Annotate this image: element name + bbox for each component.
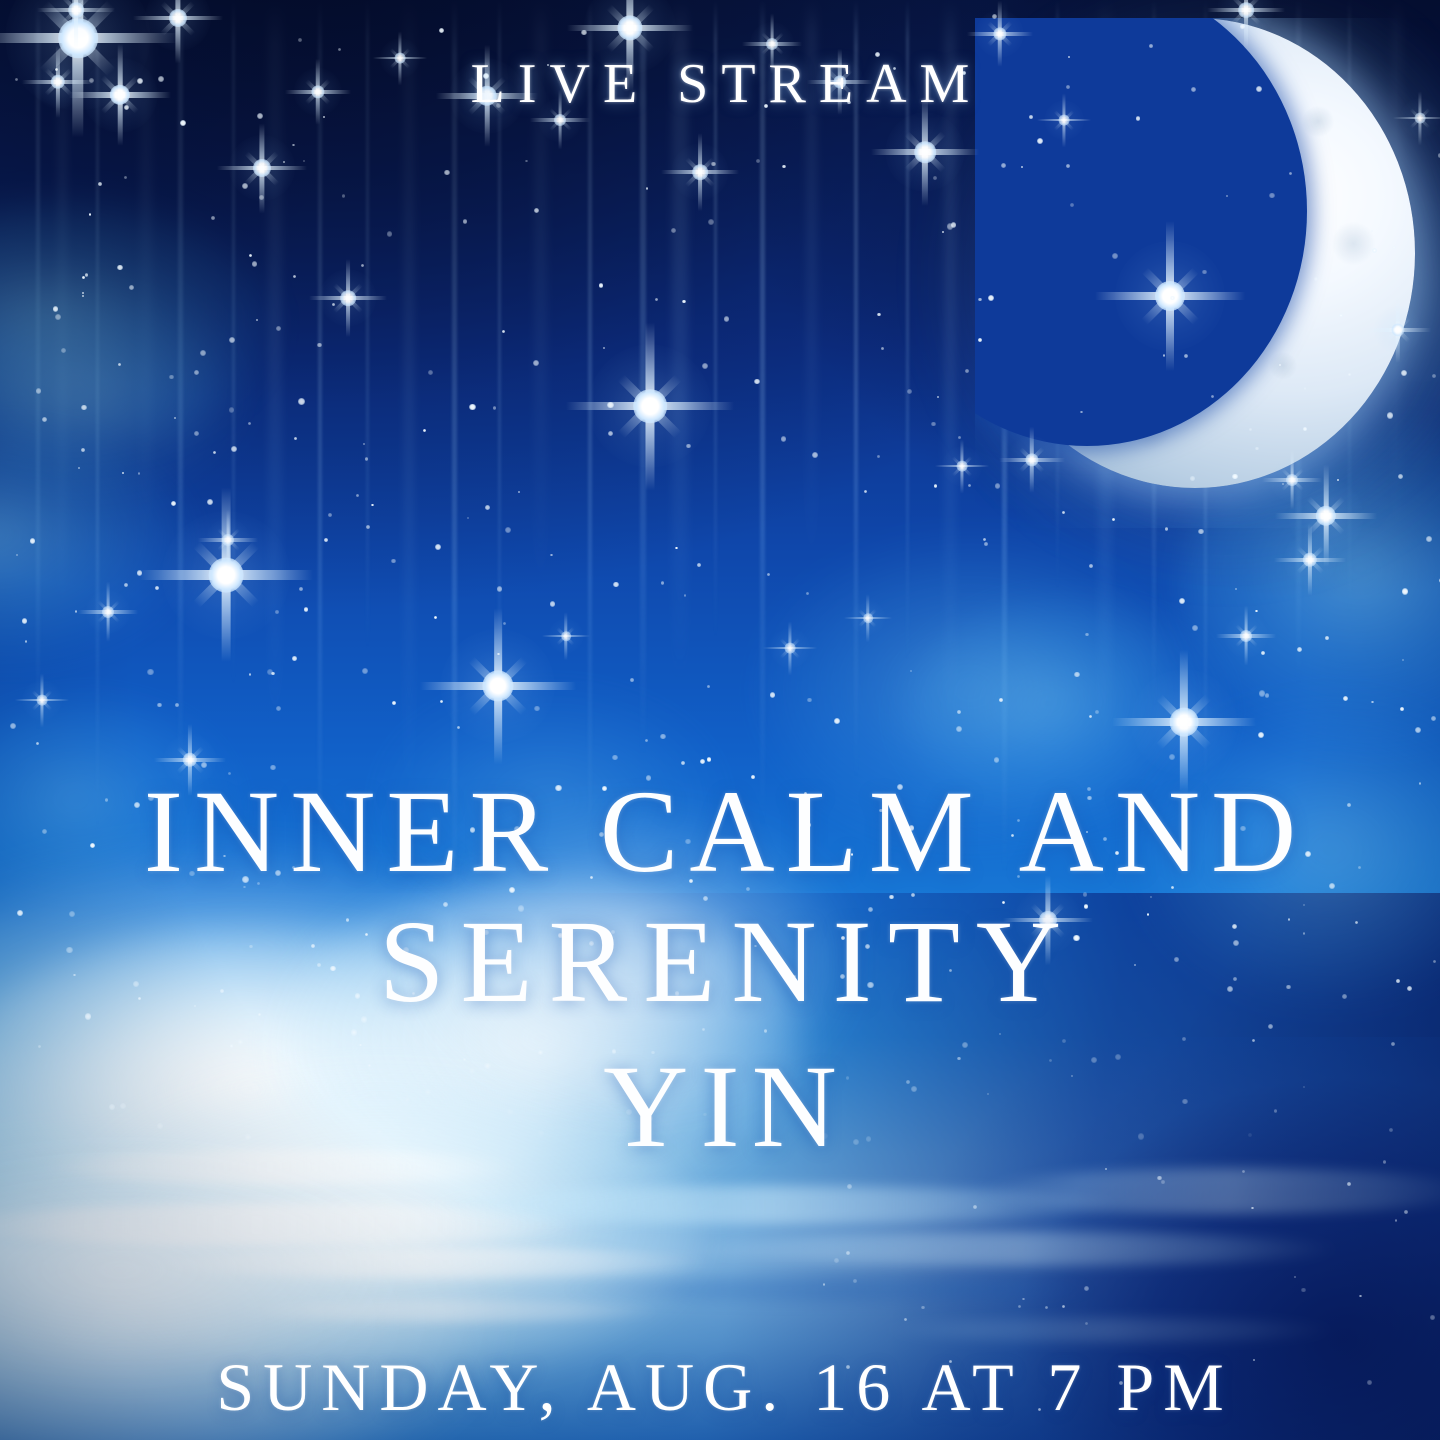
star-dot xyxy=(707,685,710,688)
star-dot xyxy=(682,300,685,303)
star-dot xyxy=(806,592,809,595)
star-dot xyxy=(1371,701,1373,703)
star-core xyxy=(692,164,708,180)
star-dot xyxy=(1170,296,1174,300)
star-dot xyxy=(756,159,760,163)
star-dot xyxy=(1337,479,1339,481)
star-dot xyxy=(992,14,997,19)
star-dot xyxy=(323,116,325,118)
star-dot xyxy=(921,1306,925,1310)
star-dot xyxy=(1325,636,1329,640)
star-dot xyxy=(834,1258,839,1263)
star-dot xyxy=(1062,1305,1065,1308)
star-dot xyxy=(675,547,677,549)
star-dot xyxy=(877,455,879,457)
star-dot xyxy=(1387,412,1393,418)
star-dot xyxy=(256,319,258,321)
star-dot xyxy=(697,563,701,567)
star-dot xyxy=(661,581,664,584)
star-dot xyxy=(75,610,78,613)
star-dot xyxy=(613,582,619,588)
star-core xyxy=(766,38,778,50)
star-dot xyxy=(169,375,173,379)
star-dot xyxy=(36,742,39,745)
star-core xyxy=(37,695,48,706)
star-dot xyxy=(435,544,441,550)
star-dot xyxy=(1398,474,1403,479)
star-dot xyxy=(630,678,634,682)
star-dot xyxy=(1022,1298,1025,1301)
star-core xyxy=(914,141,936,163)
star-dot xyxy=(1112,518,1115,521)
star-dot xyxy=(361,264,364,267)
star-core xyxy=(169,9,187,27)
star-dot xyxy=(493,406,497,410)
star-dot xyxy=(275,610,278,613)
star-core xyxy=(863,613,873,623)
star-core xyxy=(1170,708,1199,737)
title-line-2: SERENITY xyxy=(0,888,1440,1037)
star-dot xyxy=(98,182,102,186)
star-dot xyxy=(457,726,460,729)
star-core xyxy=(1238,2,1254,18)
star-dot xyxy=(999,698,1003,702)
star-dot xyxy=(1426,536,1432,542)
star-dot xyxy=(965,369,969,373)
star-dot xyxy=(485,505,490,510)
star-dot xyxy=(82,276,85,279)
star-dot xyxy=(994,757,999,762)
star-dot xyxy=(118,363,121,366)
star-dot xyxy=(294,437,297,440)
star-dot xyxy=(1401,370,1407,376)
star-dot xyxy=(371,504,373,506)
star-dot xyxy=(934,484,937,487)
star-dot xyxy=(1179,598,1185,604)
star-dot xyxy=(78,467,80,469)
poster-canvas: LIVE STREAM INNER CALM AND SERENITY YIN … xyxy=(0,0,1440,1440)
star-core xyxy=(68,2,84,18)
star-dot xyxy=(194,431,199,436)
star-dot xyxy=(853,1279,857,1283)
star-dot xyxy=(1359,1295,1362,1298)
star-dot xyxy=(612,755,617,760)
star-dot xyxy=(956,726,962,732)
star-dot xyxy=(1198,529,1203,534)
star-core xyxy=(1059,115,1070,126)
star-core xyxy=(785,643,796,654)
poster-title: INNER CALM AND SERENITY YIN xyxy=(0,775,1440,1176)
star-dot xyxy=(534,706,539,711)
star-dot xyxy=(1304,387,1306,389)
star-dot xyxy=(55,314,61,320)
star-dot xyxy=(207,499,213,505)
star-core xyxy=(957,461,968,472)
star-dot xyxy=(271,672,275,676)
star-dot xyxy=(550,601,555,606)
star-dot xyxy=(338,48,341,51)
star-dot xyxy=(978,338,982,342)
star-dot xyxy=(1294,1276,1296,1278)
star-dot xyxy=(1258,732,1264,738)
star-dot xyxy=(42,417,47,422)
star-core xyxy=(102,606,114,618)
star-core xyxy=(253,159,271,177)
star-dot xyxy=(1261,651,1265,655)
star-dot xyxy=(298,398,304,404)
star-dot xyxy=(1430,1315,1434,1319)
star-dot xyxy=(933,176,937,180)
star-core xyxy=(340,290,356,306)
star-dot xyxy=(1269,193,1275,199)
star-dot xyxy=(846,1251,850,1255)
star-dot xyxy=(1149,44,1153,48)
star-dot xyxy=(124,176,127,179)
star-dot xyxy=(700,759,705,764)
star-dot xyxy=(428,370,433,375)
star-dot xyxy=(767,573,770,576)
star-dot xyxy=(973,1205,977,1209)
star-dot xyxy=(1404,1210,1408,1214)
star-dot xyxy=(283,161,285,163)
star-dot xyxy=(1251,1207,1254,1210)
star-dot xyxy=(681,761,685,765)
star-dot xyxy=(646,187,648,189)
star-dot xyxy=(1339,314,1343,318)
event-date-time: SUNDAY, AUG. 16 AT 7 PM xyxy=(0,1348,1440,1427)
star-dot xyxy=(533,360,539,366)
star-dot xyxy=(847,1184,852,1189)
star-dot xyxy=(387,231,392,236)
star-dot xyxy=(1089,715,1092,718)
star-dot xyxy=(984,542,988,546)
star-dot xyxy=(988,295,994,301)
star-dot xyxy=(607,402,613,408)
title-line-1: INNER CALM AND xyxy=(0,775,1440,888)
star-dot xyxy=(231,446,237,452)
star-dot xyxy=(881,347,884,350)
star-dot xyxy=(1402,588,1408,594)
star-dot xyxy=(958,436,961,439)
star-dot xyxy=(299,587,303,591)
star-dot xyxy=(1240,24,1245,29)
star-dot xyxy=(229,407,235,413)
star-dot xyxy=(1084,1286,1089,1291)
star-dot xyxy=(1080,411,1083,414)
title-line-3: YIN xyxy=(0,1037,1440,1176)
star-dot xyxy=(947,223,953,229)
star-dot xyxy=(1202,270,1206,274)
star-dot xyxy=(16,554,18,556)
star-dot xyxy=(834,718,840,724)
star-dot xyxy=(754,379,759,384)
star-dot xyxy=(1372,248,1377,253)
star-dot xyxy=(1190,476,1195,481)
star-dot xyxy=(823,1283,825,1285)
star-dot xyxy=(81,405,86,410)
star-dot xyxy=(995,483,1001,489)
star-dot xyxy=(724,316,729,321)
star-dot xyxy=(249,673,252,676)
star-dot xyxy=(303,160,305,162)
star-core xyxy=(561,631,571,641)
star-core xyxy=(633,389,667,423)
star-dot xyxy=(124,583,128,587)
star-dot xyxy=(332,303,335,306)
star-dot xyxy=(581,30,586,35)
star-dot xyxy=(342,194,345,197)
star-dot xyxy=(292,656,297,661)
star-dot xyxy=(469,404,475,410)
star-dot xyxy=(1432,374,1436,378)
star-dot xyxy=(175,703,179,707)
star-dot xyxy=(550,554,552,556)
star-dot xyxy=(1431,716,1436,721)
star-dot xyxy=(259,195,264,200)
star-dot xyxy=(603,347,605,349)
star-dot xyxy=(1279,364,1281,366)
star-dot xyxy=(25,640,28,643)
star-core xyxy=(222,534,234,546)
star-dot xyxy=(807,698,812,703)
star-dot xyxy=(1226,195,1228,197)
star-dot xyxy=(304,607,309,612)
star-dot xyxy=(1089,564,1093,568)
star-core xyxy=(1286,474,1298,486)
star-dot xyxy=(1074,672,1079,677)
star-dot xyxy=(434,616,437,619)
star-dot xyxy=(1395,1219,1397,1221)
star-dot xyxy=(138,472,140,474)
star-dot xyxy=(53,306,58,311)
star-dot xyxy=(292,144,295,147)
star-dot xyxy=(1192,625,1198,631)
star-dot xyxy=(317,343,321,347)
star-dot xyxy=(711,162,715,166)
star-dot xyxy=(1161,1180,1164,1183)
star-dot xyxy=(1232,474,1238,480)
star-dot xyxy=(1112,253,1118,259)
star-dot xyxy=(983,538,986,541)
star-dot xyxy=(30,538,35,543)
star-dot xyxy=(324,538,328,542)
star-dot xyxy=(356,494,359,497)
star-core xyxy=(1240,630,1252,642)
star-dot xyxy=(684,594,686,596)
star-dot xyxy=(877,313,880,316)
star-dot xyxy=(812,452,818,458)
star-dot xyxy=(904,1318,906,1320)
star-dot xyxy=(655,298,658,301)
star-dot xyxy=(782,165,786,169)
star-dot xyxy=(1037,138,1043,144)
kicker-live-stream: LIVE STREAM xyxy=(0,52,1440,116)
